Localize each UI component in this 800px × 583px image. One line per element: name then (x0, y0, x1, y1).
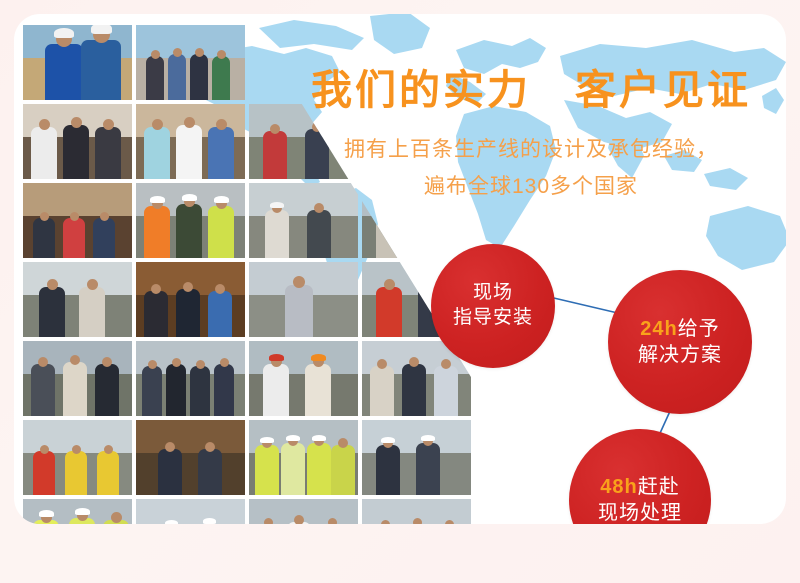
photo-person-head (103, 119, 114, 130)
badge-3-highlight: 48h (600, 476, 637, 498)
photo-person (45, 44, 83, 100)
headline-block: 我们的实力 客户见证 拥有上百条生产线的设计及承包经验， 遍布全球130多个国家 (276, 66, 786, 206)
photo-person-head (216, 119, 227, 130)
photo-person (176, 289, 200, 337)
photo-person (176, 204, 202, 258)
badge-1-line-2: 指导安装 (453, 306, 533, 331)
photo-person-head (165, 442, 175, 452)
photo-person (331, 445, 355, 495)
photo-hardhat-icon (311, 354, 326, 361)
photo-person-head (100, 212, 109, 221)
photo-person-head (183, 282, 193, 292)
photo-person-head (148, 360, 157, 369)
photo-meeting-room-table (23, 183, 132, 258)
photo-person-head (47, 279, 58, 290)
photo-workshop-handover (249, 341, 358, 416)
photo-hardhat-icon (421, 435, 435, 441)
photo-person-head (39, 119, 50, 130)
photo-person (144, 206, 170, 258)
photo-person (144, 127, 170, 179)
badge-3-line-1: 48h赶赴 (600, 474, 679, 500)
photo-award-handover-hardhats (136, 183, 245, 258)
photo-person (166, 364, 186, 416)
badge-2-line-1-rest: 给予 (678, 318, 720, 340)
badge-3-line-2: 现场处理 (598, 500, 682, 524)
badge-24h-solution[interactable]: 24h给予 解决方案 (608, 270, 752, 414)
photo-person-head (377, 359, 387, 369)
badge-1-line-1: 现场 (473, 281, 513, 306)
photo-person-head (293, 276, 305, 288)
photo-person-head (384, 279, 395, 290)
photo-person-head (264, 518, 273, 524)
photo-person (263, 364, 289, 416)
photo-indoor-staff-line (362, 499, 471, 524)
photo-person-head (40, 445, 49, 454)
photo-showroom-visitor (249, 262, 358, 337)
photo-group-three-men (23, 341, 132, 416)
photo-person-head (151, 50, 160, 59)
photo-handshake-office (23, 104, 132, 179)
photo-person (307, 443, 331, 495)
photo-person (370, 366, 394, 416)
photo-person (281, 443, 305, 495)
photo-person (176, 125, 202, 179)
photo-person-head (381, 520, 390, 524)
photo-person-head (72, 445, 81, 454)
photo-hardhat-icon (75, 508, 90, 515)
photo-person (97, 451, 119, 495)
photo-person (208, 127, 234, 179)
photo-person (418, 208, 442, 258)
photo-person-head (441, 359, 451, 369)
photo-warehouse-equipment (136, 499, 245, 524)
photo-hardhat-icon (39, 510, 54, 517)
photo-person-head (217, 50, 226, 59)
photo-sky (136, 499, 245, 524)
photo-person-head (220, 358, 229, 367)
photo-ground (136, 453, 245, 495)
photo-person (81, 40, 121, 100)
photo-person-head (102, 357, 112, 367)
photo-hardhat-icon (381, 437, 395, 443)
photo-person (65, 451, 87, 495)
photo-hardhat-rack (23, 420, 132, 495)
photo-person-head (151, 284, 161, 294)
photo-person (307, 210, 331, 258)
photo-person (144, 291, 168, 337)
photo-person-head (409, 357, 419, 367)
photo-mosaic-edge-f (475, 420, 584, 495)
photo-person-head (70, 212, 79, 221)
photo-person (31, 127, 57, 179)
subtitle-line-1: 拥有上百条生产线的设计及承包经验， (276, 132, 786, 169)
photo-person-head (445, 520, 454, 524)
photo-hardhat-icon (54, 28, 74, 38)
photo-person-head (195, 48, 204, 57)
photo-person (79, 287, 105, 337)
photo-person (93, 218, 115, 258)
photo-person (208, 206, 234, 258)
photo-person-head (111, 512, 122, 523)
photo-person-head (215, 284, 225, 294)
photo-person (212, 56, 230, 100)
photo-mosaic-edge-g (475, 499, 584, 524)
photo-person-head (205, 442, 215, 452)
badge-2-line-1: 24h给予 (640, 316, 719, 342)
page-title: 我们的实力 客户见证 (276, 66, 786, 114)
photo-person-head (104, 445, 113, 454)
photo-person (305, 364, 331, 416)
photo-person (208, 291, 232, 337)
photo-banquet-dinner (136, 262, 245, 337)
photo-person (376, 287, 402, 337)
badge-3-line-1-rest: 赶赴 (638, 476, 680, 498)
banner-inner-card: 我们的实力 客户见证 拥有上百条生产线的设计及承包经验， 遍布全球130多个国家… (14, 14, 786, 524)
photo-person-head (196, 360, 205, 369)
photo-hardhat-icon (182, 194, 197, 201)
photo-person-head (71, 117, 82, 128)
photo-person (63, 362, 87, 416)
photo-person (285, 285, 313, 337)
photo-person (63, 125, 89, 179)
photo-person (402, 364, 426, 416)
photo-formal-group-portrait (249, 499, 358, 524)
subtitle-line-2: 遍布全球130多个国家 (276, 169, 786, 206)
photo-person-head (184, 117, 195, 128)
photo-person-head (328, 518, 337, 524)
photo-person (63, 218, 85, 258)
photo-clients-portrait-lobby (136, 104, 245, 179)
photo-person (33, 451, 55, 495)
photo-person-head (172, 358, 181, 367)
photo-team-photo-outdoor (136, 341, 245, 416)
photo-person (31, 364, 55, 416)
photo-person (198, 449, 222, 495)
photo-hardhat-icon (286, 435, 300, 441)
photo-person (190, 366, 210, 416)
photo-person-head (173, 48, 182, 57)
photo-person (146, 56, 164, 100)
photo-person (265, 210, 289, 258)
photo-person-head (413, 518, 422, 524)
photo-site-team-lineup (136, 25, 245, 100)
photo-person (434, 366, 458, 416)
photo-person-head (152, 119, 163, 130)
photo-person-head (70, 355, 80, 365)
photo-conference-audience (136, 420, 245, 495)
photo-office-desk-discussion (23, 262, 132, 337)
photo-person (158, 449, 182, 495)
photo-person (416, 443, 440, 495)
photo-person-head (294, 515, 304, 524)
photo-person (255, 445, 279, 495)
photo-engineers-hardhats-gear (23, 25, 132, 100)
badge-48h-dispatch[interactable]: 48h赶赴 现场处理 (569, 429, 711, 524)
photo-person (190, 54, 208, 100)
photo-hardhat-icon (312, 435, 326, 441)
photo-vip-tour-vests (249, 420, 358, 495)
photo-person (33, 218, 55, 258)
badge-onsite-installation[interactable]: 现场 指导安装 (431, 244, 555, 368)
photo-hardhat-icon (269, 354, 284, 361)
photo-hardhat-icon (260, 437, 274, 443)
marketing-banner: 我们的实力 客户见证 拥有上百条生产线的设计及承包经验， 遍布全球130多个国家… (0, 0, 800, 583)
photo-plant-floor-walk (362, 420, 471, 495)
photo-person-head (87, 279, 98, 290)
photo-person (142, 366, 162, 416)
badge-2-line-2: 解决方案 (638, 342, 722, 368)
photo-vip-vest-closeup (23, 499, 132, 524)
photo-sky (362, 25, 471, 61)
photo-sky (136, 420, 245, 456)
photo-person (39, 287, 65, 337)
badge-2-highlight: 24h (640, 318, 677, 340)
photo-person (376, 445, 400, 495)
photo-person (168, 54, 186, 100)
photo-person-head (38, 357, 48, 367)
photo-person (95, 364, 119, 416)
photo-hardhat-icon (203, 518, 216, 524)
photo-hardhat-icon (214, 196, 229, 203)
photo-person-head (426, 38, 439, 51)
photo-person-head (338, 438, 348, 448)
photo-hardhat-icon (91, 25, 112, 34)
photo-hardhat-icon (150, 196, 165, 203)
photo-person (95, 127, 121, 179)
photo-person (214, 364, 234, 416)
subtitle: 拥有上百条生产线的设计及承包经验， 遍布全球130多个国家 (276, 132, 786, 206)
photo-person-head (40, 212, 49, 221)
photo-person-head (389, 40, 402, 53)
photo-person (376, 210, 400, 258)
photo-hardhat-icon (165, 520, 178, 524)
